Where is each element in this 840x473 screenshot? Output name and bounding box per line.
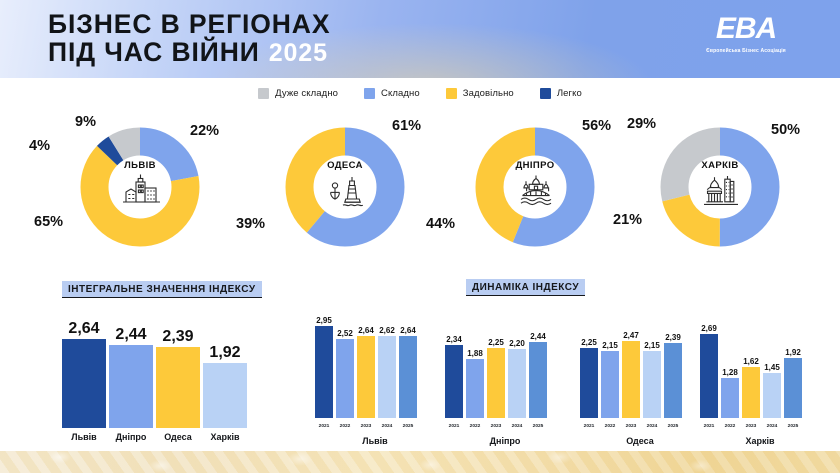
legend-swatch-icon — [540, 88, 551, 99]
dynamics-bar-value: 1,45 — [764, 363, 780, 372]
legend-item: Задовільно — [446, 88, 514, 99]
donut-percent-label: 39% — [236, 216, 265, 232]
dynamics-city-label: Дніпро — [445, 436, 565, 446]
title-year: 2025 — [269, 39, 328, 67]
dynamics-year-label: 2024 — [382, 424, 393, 429]
dynamics-bar-value: 2,95 — [316, 316, 332, 325]
donut-chart-дніпро: ДНІПРО56%44% — [430, 112, 640, 262]
donut-ring: ЛЬВІВ — [79, 126, 201, 248]
legend-label: Складно — [381, 88, 420, 99]
dynamics-city-label: Харків — [700, 436, 820, 446]
donut-chart-харків: ХАРКІВ50%21%29% — [615, 112, 825, 262]
dynamics-bar — [315, 326, 333, 418]
donut-percent-label: 61% — [392, 118, 421, 134]
dynamics-bar-value: 2,69 — [701, 324, 717, 333]
dynamics-bar — [601, 351, 619, 418]
integral-bar — [156, 347, 200, 428]
dynamics-bar-value: 2,47 — [623, 331, 639, 340]
legend-swatch-icon — [446, 88, 457, 99]
donut-percent-label: 44% — [426, 216, 455, 232]
page-header: БІЗНЕС В РЕГІОНАХ ПІД ЧАС ВІЙНИ2025 EBA … — [0, 0, 840, 78]
dynamics-year-label: 2024 — [767, 424, 778, 429]
integral-bar — [109, 345, 153, 428]
dynamics-bar-value: 2,20 — [509, 339, 525, 348]
dynamics-group-львів: 2,9520212,5220222,6420232,6220242,642025… — [315, 300, 435, 450]
integral-bar-category-label: Харків — [210, 432, 239, 442]
eba-logo-mark: EBA — [688, 16, 804, 48]
donut-percent-label: 65% — [34, 214, 63, 230]
eba-logo-text: EBA — [688, 13, 804, 45]
dynamics-bar-value: 2,15 — [602, 341, 618, 350]
dynamics-city-label: Одеса — [580, 436, 700, 446]
legend-item: Складно — [364, 88, 420, 99]
dynamics-bar-value: 2,25 — [488, 338, 504, 347]
dynamics-year-label: 2025 — [788, 424, 799, 429]
dynamics-index-bar-chart: 2,9520212,5220222,6420232,6220242,642025… — [300, 300, 840, 450]
dynamics-year-label: 2023 — [491, 424, 502, 429]
dynamics-bar — [700, 334, 718, 418]
dynamics-bar — [508, 349, 526, 418]
dynamics-group-харків: 2,6920211,2820221,6220231,4520241,922025… — [700, 300, 820, 450]
dynamics-bar — [399, 336, 417, 418]
integral-index-bar-chart: 2,64Львів2,44Дніпро2,39Одеса1,92Харків — [62, 316, 258, 442]
dynamics-bar — [664, 343, 682, 418]
integral-bar-value: 2,64 — [68, 320, 99, 338]
legend-label: Легко — [557, 88, 582, 99]
dynamics-year-label: 2022 — [605, 424, 616, 429]
donut-percent-label: 22% — [190, 123, 219, 139]
dynamics-bar — [378, 336, 396, 418]
integral-bar — [62, 339, 106, 428]
dynamics-year-label: 2025 — [533, 424, 544, 429]
dynamics-bar-value: 2,25 — [581, 338, 597, 347]
donut-ring: ХАРКІВ — [659, 126, 781, 248]
dynamics-bar-value: 2,52 — [337, 329, 353, 338]
donut-chart-одеса: ОДЕСА61%39% — [240, 112, 450, 262]
dynamics-bar-value: 1,28 — [722, 368, 738, 377]
dynamics-year-label: 2025 — [668, 424, 679, 429]
dynamics-bar-value: 2,39 — [665, 333, 681, 342]
legend-item: Легко — [540, 88, 582, 99]
donut-chart-львів: ЛЬВІВ22%65%4%9% — [35, 112, 245, 262]
dynamics-year-label: 2021 — [319, 424, 330, 429]
dynamics-group-дніпро: 2,3420211,8820222,2520232,2020242,442025… — [445, 300, 565, 450]
integral-bar-value: 1,92 — [209, 344, 240, 362]
dynamics-bar — [580, 348, 598, 418]
dynamics-year-label: 2022 — [340, 424, 351, 429]
dynamics-bar-value: 2,34 — [446, 335, 462, 344]
dynamics-bar — [742, 367, 760, 418]
dynamics-bar — [357, 336, 375, 418]
dynamics-bar — [721, 378, 739, 418]
dynamics-bar-value: 2,64 — [400, 326, 416, 335]
dynamics-year-label: 2024 — [647, 424, 658, 429]
integral-bar-value: 2,44 — [115, 326, 146, 344]
dynamics-year-label: 2022 — [725, 424, 736, 429]
donut-charts-row: ЛЬВІВ22%65%4%9%ОДЕСА61%39%ДНІПРО56%44%ХА… — [0, 112, 840, 262]
integral-section-title: ІНТЕГРАЛЬНЕ ЗНАЧЕННЯ ІНДЕКСУ — [62, 281, 262, 298]
title-line-1: БІЗНЕС В РЕГІОНАХ — [48, 11, 330, 38]
donut-percent-label: 56% — [582, 118, 611, 134]
dynamics-year-label: 2023 — [626, 424, 637, 429]
legend-label: Дуже складно — [275, 88, 338, 99]
legend-item: Дуже складно — [258, 88, 338, 99]
integral-bar — [203, 363, 247, 428]
integral-bar-category-label: Дніпро — [116, 432, 147, 442]
donut-ring: ОДЕСА — [284, 126, 406, 248]
donut-ring: ДНІПРО — [474, 126, 596, 248]
chart-legend: Дуже складноСкладноЗадовільноЛегко — [0, 88, 840, 99]
dynamics-year-label: 2025 — [403, 424, 414, 429]
donut-percent-label: 4% — [29, 138, 50, 154]
page-title: БІЗНЕС В РЕГІОНАХ ПІД ЧАС ВІЙНИ2025 — [48, 11, 330, 67]
donut-percent-label: 50% — [771, 122, 800, 138]
dynamics-year-label: 2023 — [361, 424, 372, 429]
dynamics-year-label: 2021 — [704, 424, 715, 429]
dynamics-bar — [466, 359, 484, 418]
dynamics-bar — [643, 351, 661, 418]
donut-percent-label: 29% — [627, 116, 656, 132]
legend-label: Задовільно — [463, 88, 514, 99]
dynamics-year-label: 2021 — [584, 424, 595, 429]
donut-percent-label: 21% — [613, 212, 642, 228]
dynamics-year-label: 2023 — [746, 424, 757, 429]
dynamics-group-одеса: 2,2520212,1520222,4720232,1520242,392025… — [580, 300, 700, 450]
decorative-bottom-strip — [0, 451, 840, 473]
dynamics-bar — [529, 342, 547, 418]
dynamics-year-label: 2021 — [449, 424, 460, 429]
dynamics-city-label: Львів — [315, 436, 435, 446]
dynamics-bar-value: 1,92 — [785, 348, 801, 357]
dynamics-bar — [784, 358, 802, 418]
dynamics-bar — [445, 345, 463, 418]
title-line-2: ПІД ЧАС ВІЙНИ — [48, 37, 260, 67]
dynamics-bar — [622, 341, 640, 418]
donut-percent-label: 9% — [75, 114, 96, 130]
dynamics-bar-value: 1,88 — [467, 349, 483, 358]
dynamics-bar — [487, 348, 505, 418]
legend-swatch-icon — [258, 88, 269, 99]
dynamics-year-label: 2024 — [512, 424, 523, 429]
dynamics-bar — [336, 339, 354, 418]
integral-bar-category-label: Одеса — [164, 432, 192, 442]
dynamics-bar-value: 2,15 — [644, 341, 660, 350]
dynamics-bar-value: 2,64 — [358, 326, 374, 335]
integral-bar-value: 2,39 — [162, 328, 193, 346]
eba-logo-subtitle: Європейська Бізнес Асоціація — [688, 48, 804, 54]
dynamics-bar-value: 2,62 — [379, 326, 395, 335]
eba-logo: EBA Європейська Бізнес Асоціація — [688, 16, 804, 64]
dynamics-bar-value: 2,44 — [530, 332, 546, 341]
integral-bar-category-label: Львів — [71, 432, 96, 442]
dynamics-bar-value: 1,62 — [743, 357, 759, 366]
legend-swatch-icon — [364, 88, 375, 99]
dynamics-section-title: ДИНАМІКА ІНДЕКСУ — [466, 279, 585, 296]
dynamics-year-label: 2022 — [470, 424, 481, 429]
dynamics-bar — [763, 373, 781, 418]
